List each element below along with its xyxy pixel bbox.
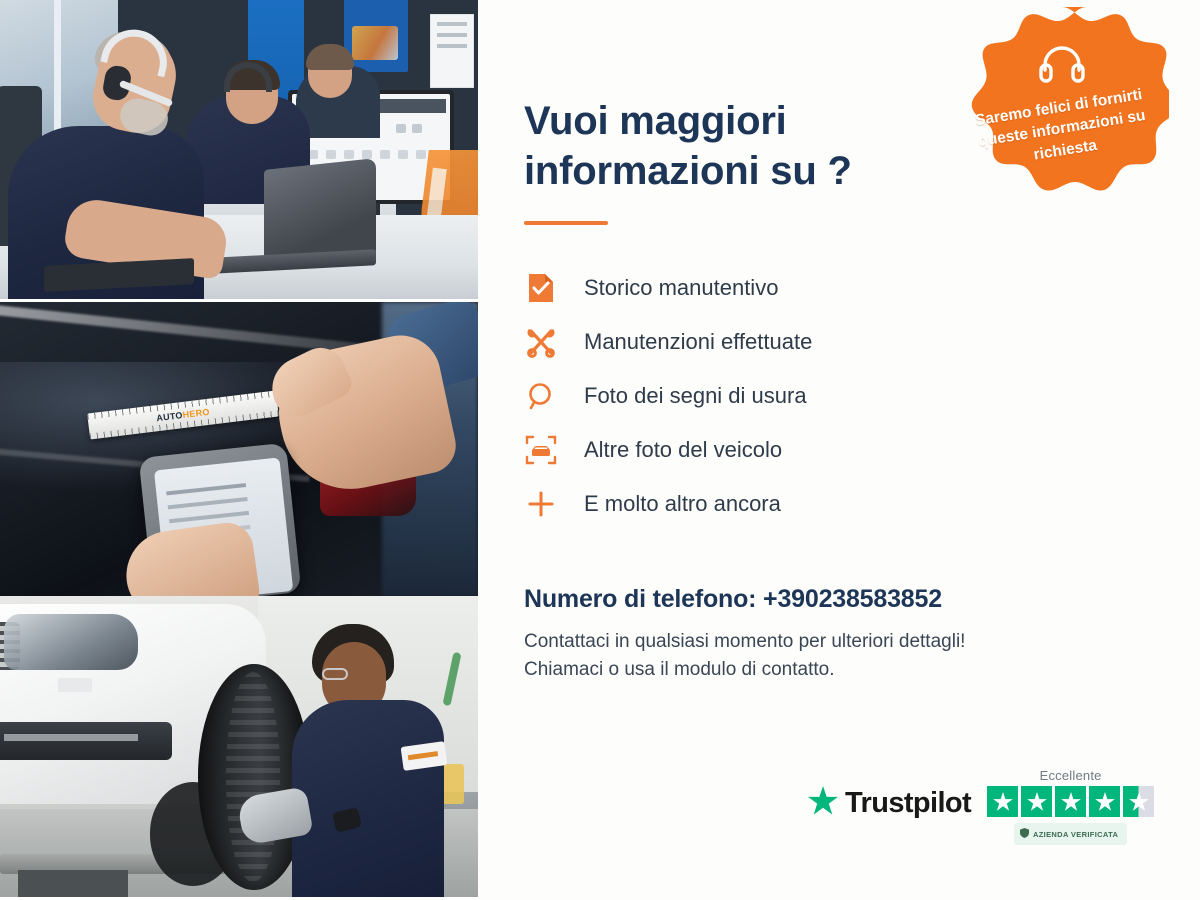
headline-line-1: Vuoi maggiori [524,99,787,143]
star-rating [987,786,1154,817]
contact-block: Numero di telefono: +390238583852 Contat… [524,585,1152,685]
plus-icon [524,487,558,521]
star-filled [1021,786,1052,817]
photo-column: AUTOHERO [0,0,478,900]
feature-label: E molto altro ancora [584,491,781,517]
headset-icon [1039,43,1085,85]
list-item: Altre foto del veicolo [524,433,1152,467]
phone-number[interactable]: Numero di telefono: +390238583852 [524,585,1152,614]
trustpilot-logo: Trustpilot [808,768,971,820]
list-item: Foto dei segni di usura [524,379,1152,413]
verified-badge: AZIENDA VERIFICATA [1014,823,1127,845]
star-filled [1055,786,1086,817]
verified-label: AZIENDA VERIFICATA [1033,830,1118,839]
trustpilot-rating: Eccellente [987,768,1154,845]
magnifier-icon [524,379,558,413]
inspection-photo: AUTOHERO [0,302,478,596]
list-item: Manutenzioni effettuate [524,325,1152,359]
feature-label: Storico manutentivo [584,275,778,301]
headline-line-2: informazioni su ? [524,149,852,193]
star-filled [1089,786,1120,817]
contact-line-1: Contattaci in qualsiasi momento per ulte… [524,628,1152,657]
trustpilot-wordmark: Trustpilot [845,787,971,820]
shield-icon [1020,825,1029,843]
callout-badge: Saremo felici di fornirti queste informa… [955,5,1169,223]
document-check-icon [524,271,558,305]
trustpilot-star-icon [808,786,838,820]
feature-label: Manutenzioni effettuate [584,329,812,355]
title-underline [524,221,608,225]
contact-line-2: Chiamaci o usa il modulo di contatto. [524,656,1152,685]
trustpilot-widget[interactable]: Trustpilot Eccellente [808,768,1154,845]
list-item: Storico manutentivo [524,271,1152,305]
content-panel: Vuoi maggiori informazioni su ? Saremo f… [478,0,1200,900]
star-half [1123,786,1154,817]
car-scan-icon [524,433,558,467]
page-title: Vuoi maggiori informazioni su ? [524,96,954,197]
feature-label: Foto dei segni di usura [584,383,807,409]
star-filled [987,786,1018,817]
feature-list: Storico manutentivo Manutenzi [524,271,1152,521]
rating-label: Eccellente [1040,768,1102,783]
feature-label: Altre foto del veicolo [584,437,782,463]
call-center-photo [0,0,478,299]
tools-cross-icon [524,325,558,359]
promo-banner: AUTOHERO [0,0,1200,900]
workshop-photo [0,596,478,897]
list-item: E molto altro ancora [524,487,1152,521]
